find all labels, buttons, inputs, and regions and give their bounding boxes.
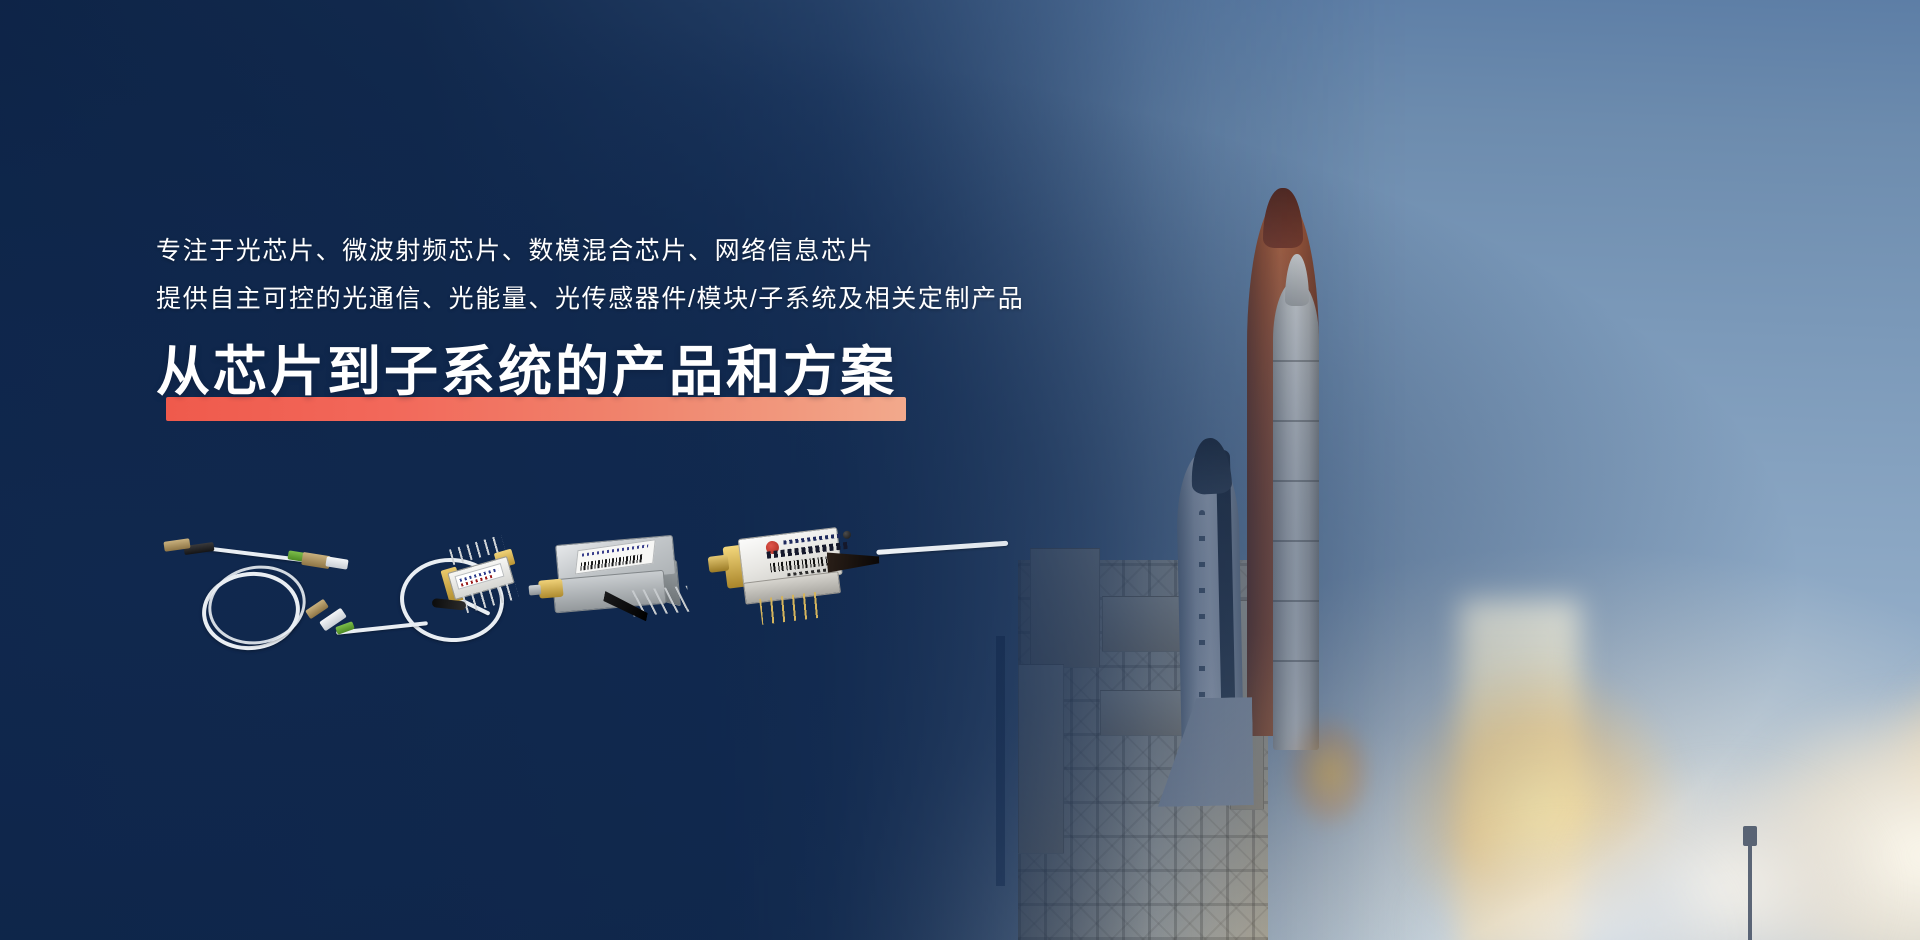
rf-metal-housing-module [549, 535, 681, 618]
page-title: 从芯片到子系统的产品和方案 [156, 341, 897, 403]
background-overlay [0, 0, 1920, 940]
butterfly-package-laser-module [445, 548, 517, 607]
headline-wrapper: 从芯片到子系统的产品和方案 [156, 341, 897, 403]
sma-connector [708, 555, 730, 573]
module-pins [759, 592, 820, 625]
hero-banner: 专注于光芯片、微波射频芯片、数模混合芯片、网络信息芯片 提供自主可控的光通信、光… [0, 0, 1920, 940]
subtitle-line-2: 提供自主可控的光通信、光能量、光传感器件/模块/子系统及相关定制产品 [156, 280, 1156, 319]
banner-copy: 专注于光芯片、微波射频芯片、数模混合芯片、网络信息芯片 提供自主可控的光通信、光… [156, 232, 1156, 403]
product-showcase: OM-RCC000NF-OU11 40Gb/s NRZ Optical Rece… [150, 530, 950, 660]
sma-connector [538, 579, 563, 599]
screw-icon [842, 530, 851, 539]
subtitle-line-1: 专注于光芯片、微波射频芯片、数模混合芯片、网络信息芯片 [156, 232, 1156, 271]
ferrule-connector [305, 599, 329, 620]
optical-receiver-module [718, 527, 846, 617]
